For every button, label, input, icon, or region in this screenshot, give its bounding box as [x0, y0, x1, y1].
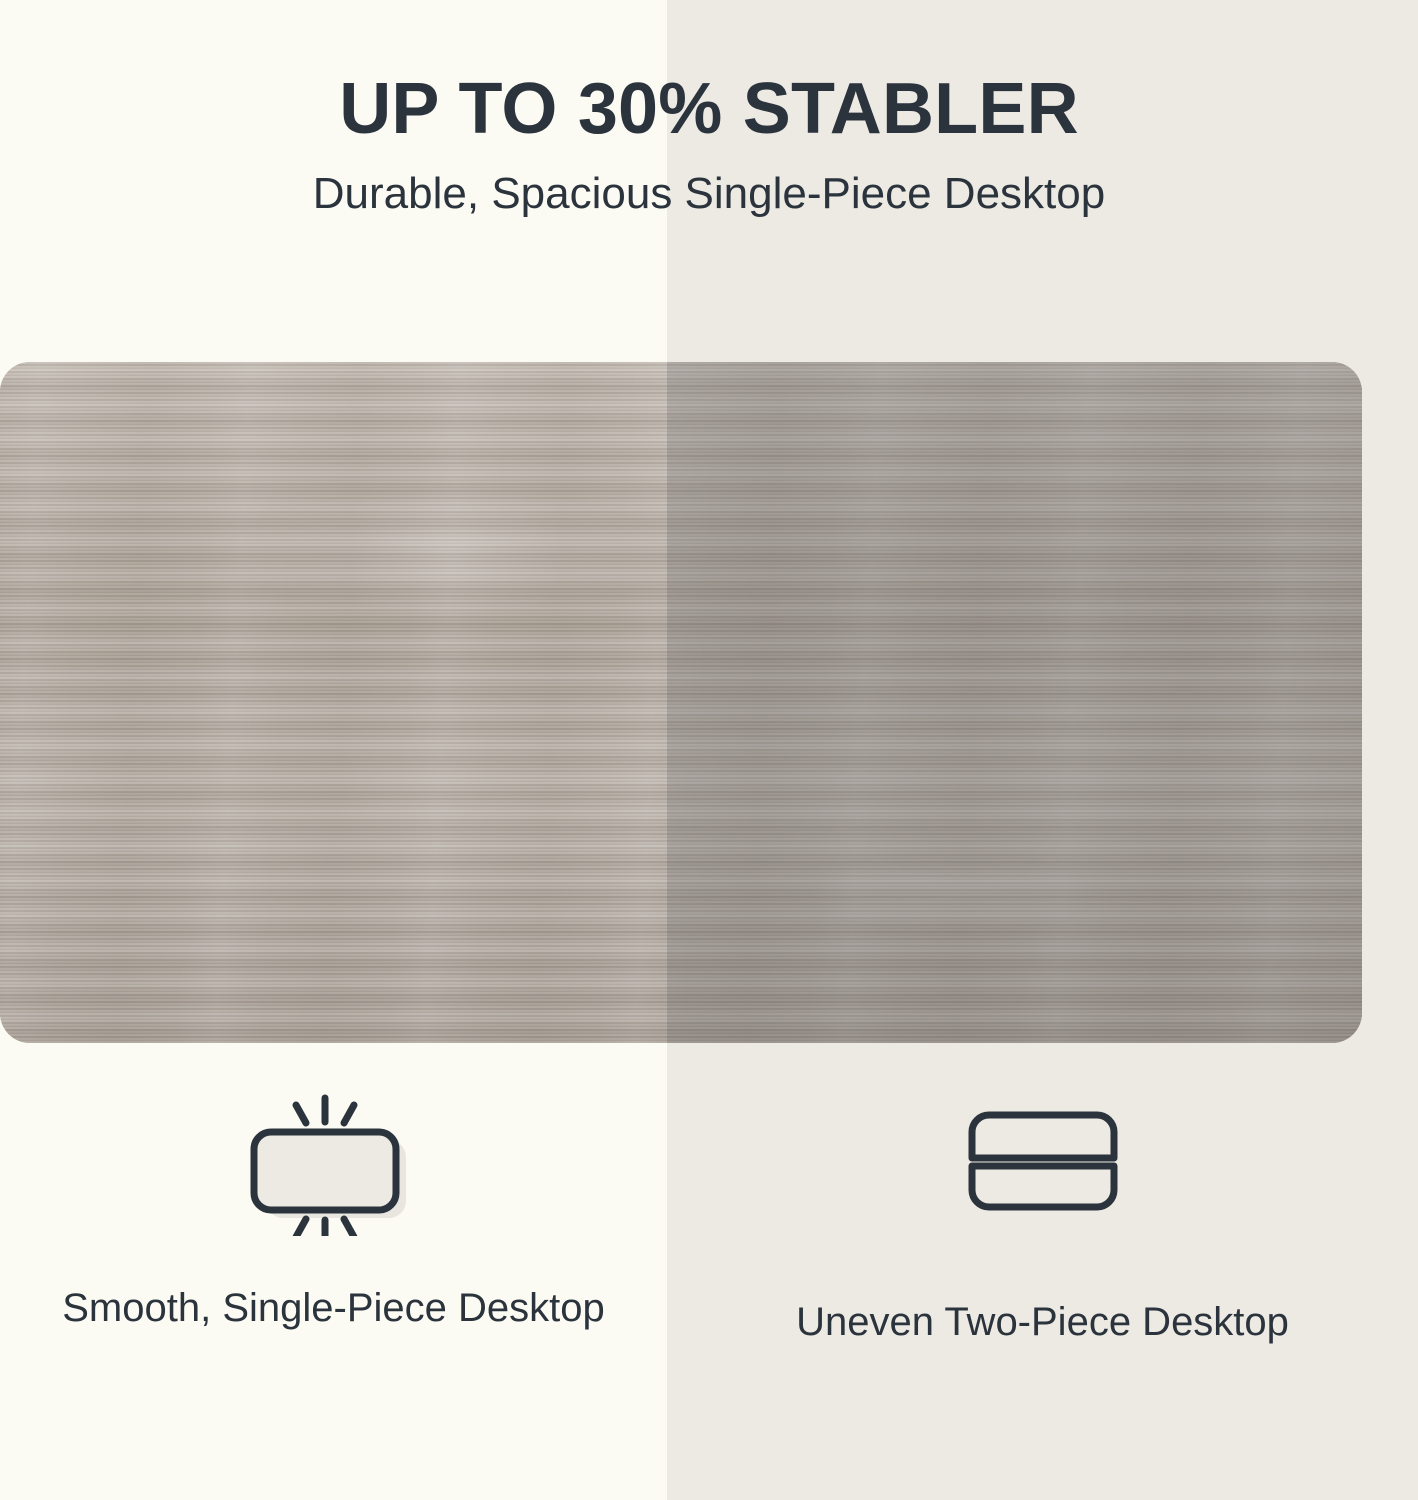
two-stacked-panels-icon	[963, 1106, 1123, 1216]
right-half-shade-overlay	[667, 362, 1362, 1043]
comparison-caption-right: Uneven Two-Piece Desktop	[796, 1236, 1289, 1351]
comparison-column-left: Smooth, Single-Piece Desktop	[0, 1086, 667, 1446]
icon-slot-left	[239, 1086, 429, 1236]
single-panel-sparkle-icon	[239, 1086, 429, 1236]
header: UP TO 30% STABLER Durable, Spacious Sing…	[0, 0, 1418, 219]
icon-slot-right	[963, 1086, 1123, 1236]
infographic-page: UP TO 30% STABLER Durable, Spacious Sing…	[0, 0, 1418, 1500]
comparison-column-right: Uneven Two-Piece Desktop	[667, 1086, 1418, 1446]
page-headline: UP TO 30% STABLER	[0, 0, 1418, 147]
desktop-comparison-image	[0, 362, 1362, 1043]
comparison-row: Smooth, Single-Piece Desktop Uneven Two-…	[0, 1086, 1418, 1446]
comparison-caption-left: Smooth, Single-Piece Desktop	[62, 1236, 605, 1337]
page-subheadline: Durable, Spacious Single-Piece Desktop	[0, 147, 1418, 219]
